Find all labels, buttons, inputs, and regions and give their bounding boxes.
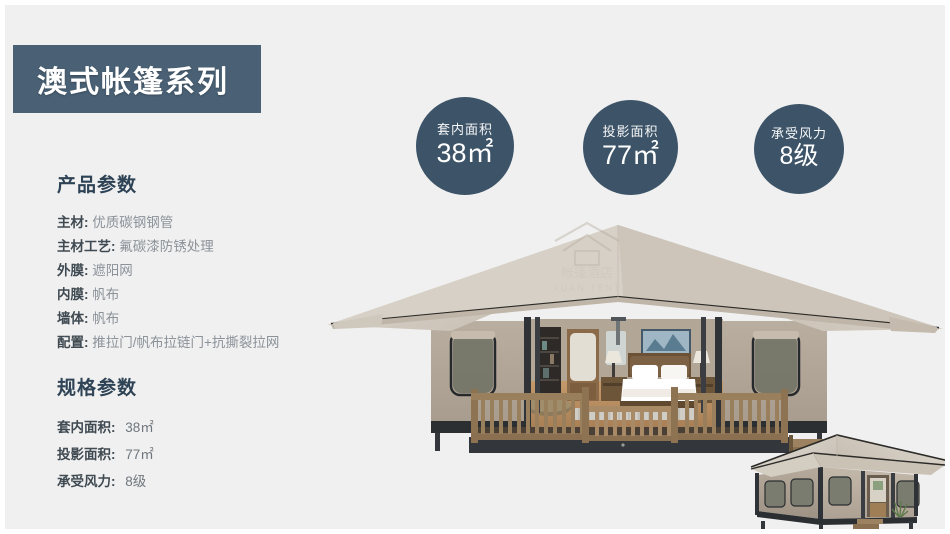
- param-label: 外膜:: [57, 263, 89, 278]
- param-label: 墙体:: [57, 311, 89, 326]
- param-label: 内膜:: [57, 287, 89, 302]
- param-value: 优质碳钢钢管: [92, 215, 173, 230]
- spec-label: 承受风力:: [57, 474, 116, 489]
- param-label: 主材:: [57, 215, 89, 230]
- stat-badge-label: 投影面积: [602, 125, 658, 139]
- stat-badge-label: 套内面积: [437, 123, 493, 137]
- stat-badge-value: 77㎡: [602, 141, 659, 171]
- param-value: 遮阳网: [92, 263, 133, 278]
- page-title: 澳式帐篷系列: [37, 57, 229, 101]
- slide-canvas: 澳式帐篷系列 产品参数 主材: 优质碳钢钢管 主材工艺: 氟碳漆防锈处理 外膜:…: [0, 0, 950, 534]
- spec-params-list: 套内面积: 38㎡ 投影面积: 77㎡ 承受风力: 8级: [57, 414, 357, 495]
- product-params-list: 主材: 优质碳钢钢管 主材工艺: 氟碳漆防锈处理 外膜: 遮阳网 内膜: 帆布 …: [57, 211, 357, 355]
- stat-badge-wind-resistance: 承受风力 8级: [754, 104, 844, 194]
- param-row: 主材: 优质碳钢钢管: [57, 211, 357, 235]
- param-row: 外膜: 遮阳网: [57, 259, 357, 283]
- param-value: 帆布: [92, 287, 119, 302]
- spec-row: 承受风力: 8级: [57, 468, 357, 495]
- watermark-en: XUAN TENT: [553, 283, 622, 293]
- spec-label: 投影面积:: [57, 447, 116, 462]
- param-value: 推拉门/帆布拉链门+抗撕裂拉网: [92, 335, 279, 350]
- param-row: 主材工艺: 氟碳漆防锈处理: [57, 235, 357, 259]
- param-value: 氟碳漆防锈处理: [119, 239, 214, 254]
- param-row: 配置: 推拉门/帆布拉链门+抗撕裂拉网: [57, 331, 357, 355]
- param-value: 帆布: [92, 311, 119, 326]
- spec-row: 投影面积: 77㎡: [57, 441, 357, 468]
- secondary-tent-illustration: [749, 423, 950, 534]
- stat-badge-interior-area: 套内面积 38㎡: [416, 97, 514, 195]
- param-row: 墙体: 帆布: [57, 307, 357, 331]
- spec-value: 38㎡: [119, 420, 154, 435]
- stat-badge-label: 承受风力: [771, 127, 827, 141]
- stat-badge-value: 8级: [780, 143, 819, 171]
- param-label: 配置:: [57, 335, 89, 350]
- title-banner: 澳式帐篷系列: [13, 45, 261, 113]
- product-params-heading: 产品参数: [57, 170, 357, 197]
- param-row: 内膜: 帆布: [57, 283, 357, 307]
- spec-params-panel: 规格参数 套内面积: 38㎡ 投影面积: 77㎡ 承受风力: 8级: [57, 373, 357, 495]
- spec-row: 套内面积: 38㎡: [57, 414, 357, 441]
- stat-badge-projected-area: 投影面积 77㎡: [583, 100, 678, 195]
- spec-params-heading: 规格参数: [57, 373, 357, 400]
- spec-value: 77㎡: [119, 447, 154, 462]
- stat-badge-value: 38㎡: [436, 139, 493, 169]
- product-params-panel: 产品参数 主材: 优质碳钢钢管 主材工艺: 氟碳漆防锈处理 外膜: 遮阳网 内膜…: [57, 170, 357, 359]
- param-label: 主材工艺:: [57, 239, 116, 254]
- watermark-cn: 帐篷酒店: [561, 265, 613, 280]
- spec-label: 套内面积:: [57, 420, 116, 435]
- spec-value: 8级: [119, 474, 146, 489]
